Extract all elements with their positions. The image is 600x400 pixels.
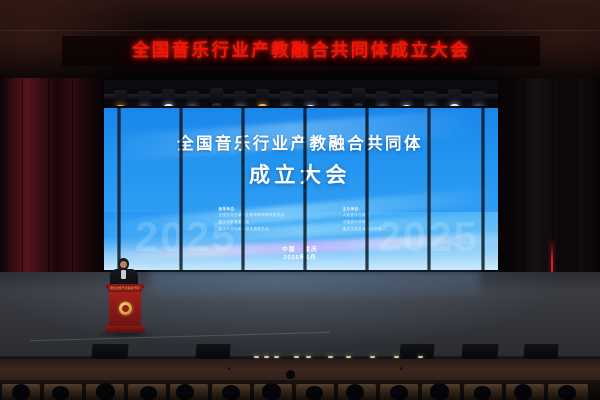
edge-light	[346, 356, 351, 358]
stage-lamp	[304, 90, 317, 107]
podium-nameplate-text: 重庆文化艺术职业学院	[111, 288, 140, 291]
edge-light	[254, 356, 259, 358]
stage-monitor	[195, 344, 230, 360]
curtain-fold	[524, 78, 525, 290]
screen-bezel	[99, 106, 501, 272]
audience-head	[52, 386, 69, 400]
audience-head	[346, 384, 364, 400]
audience-head	[286, 370, 295, 379]
screen-reflection-on-floor	[150, 272, 480, 300]
edge-light	[274, 356, 279, 358]
wall-fixture	[228, 367, 230, 370]
audience-head	[474, 386, 491, 400]
speaker-shirt	[121, 270, 126, 279]
audience-head	[140, 386, 157, 400]
audience-head	[96, 383, 115, 400]
podium-base	[105, 326, 145, 332]
stage-curtain-right	[498, 78, 600, 290]
stage-lamp	[256, 89, 269, 106]
stage-lamp	[210, 88, 223, 105]
led-banner: 全国音乐行业产教融合共同体成立大会	[62, 36, 540, 66]
audience-head	[430, 383, 449, 400]
stage-lamp	[114, 90, 127, 107]
edge-light	[394, 356, 399, 358]
podium-with-speaker: 重庆文化艺术职业学院	[102, 258, 148, 334]
audience-head	[12, 384, 30, 400]
wall-fixture	[400, 367, 402, 370]
curtain-fold	[22, 78, 23, 290]
audience-head	[222, 385, 240, 400]
podium-emblem-center	[122, 305, 129, 312]
auditorium-photo: 全国音乐行业产教融合共同体成立大会 202	[0, 0, 600, 400]
audience-head	[390, 385, 408, 400]
audience-head	[176, 384, 194, 400]
edge-light	[418, 356, 423, 358]
led-banner-text: 全国音乐行业产教融合共同体成立大会	[132, 42, 470, 60]
stage-lamp	[448, 89, 461, 106]
curtain-fold	[48, 78, 49, 290]
edge-light	[328, 356, 333, 358]
audience-head	[306, 386, 323, 400]
stage-monitor	[523, 344, 558, 360]
stage-curtain-left	[0, 78, 104, 290]
edge-light	[264, 356, 269, 358]
stage-monitor	[91, 344, 128, 360]
edge-light	[306, 356, 311, 358]
edge-light	[370, 356, 375, 358]
stage-lamp	[352, 88, 365, 105]
curtain-fold	[72, 78, 73, 290]
edge-light	[294, 356, 299, 358]
speaker-face	[120, 261, 127, 268]
curtain-fold	[576, 78, 577, 290]
audience-head	[262, 383, 281, 400]
stage-lamp	[162, 89, 175, 106]
audience-head	[514, 384, 532, 400]
stage-lamp	[400, 90, 413, 107]
audience-head	[558, 385, 576, 400]
audience-seating	[0, 380, 600, 400]
